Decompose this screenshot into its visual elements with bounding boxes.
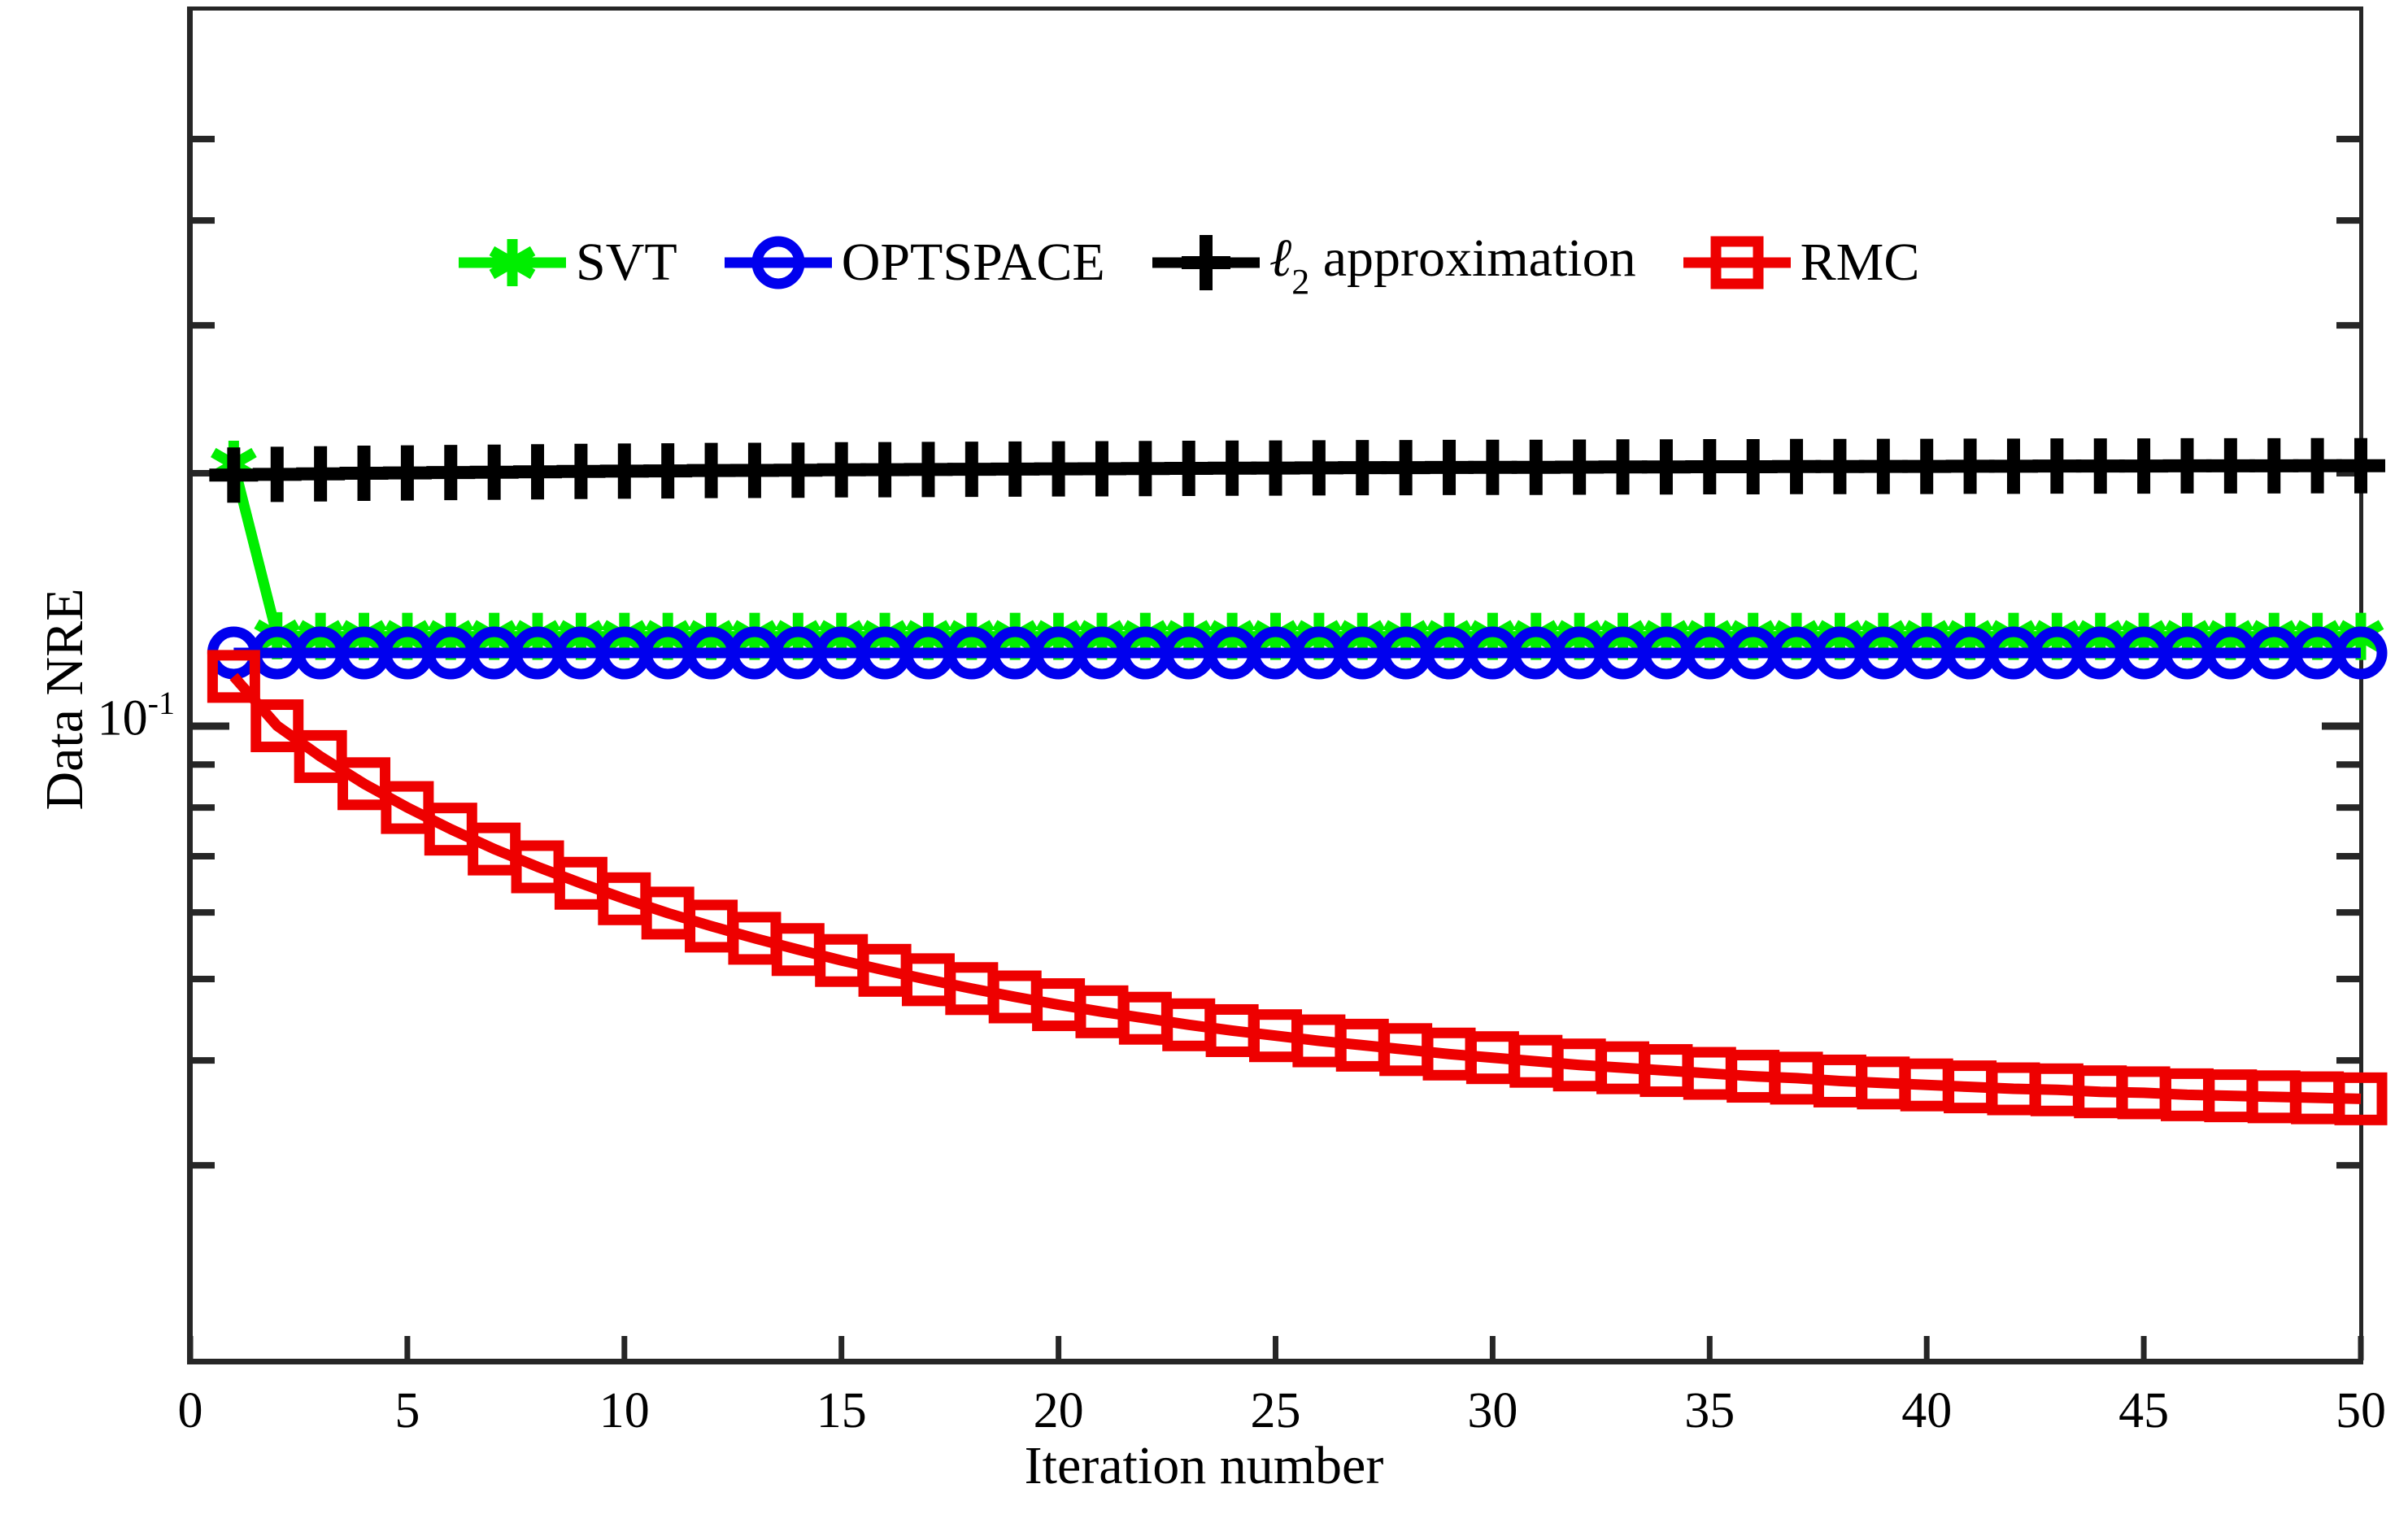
- legend-label-subscript: 2: [1291, 262, 1309, 302]
- legend-label-text: approximation: [1309, 228, 1635, 288]
- x-tick-label: 50: [2336, 1382, 2386, 1440]
- legend-sample-asterisk-icon: [455, 226, 569, 299]
- x-tick-label: 40: [1901, 1382, 1952, 1440]
- legend-label: OPTSPACE: [835, 236, 1149, 289]
- legend-sample-square-icon: [1680, 226, 1794, 299]
- legend-marker: [1182, 235, 1230, 290]
- legend-label-text: OPTSPACE: [842, 233, 1105, 292]
- legend-label-text: RMC: [1801, 233, 1920, 292]
- x-tick-label: 45: [2118, 1382, 2169, 1440]
- legend-entry-svt: SVT: [455, 226, 721, 299]
- x-tick-label: 30: [1467, 1382, 1518, 1440]
- legend-label-ell-symbol: ℓ: [1269, 228, 1292, 288]
- legend-label: SVT: [569, 236, 721, 289]
- figure-canvas: Data NRE Iteration number 05101520253035…: [0, 0, 2408, 1523]
- chart-legend: SVTOPTSPACEℓ2 approximationRMC: [455, 218, 1963, 307]
- x-tick-label: 25: [1251, 1382, 1301, 1440]
- legend-entry-approximation: ℓ2 approximation: [1149, 226, 1680, 299]
- legend-label-text: SVT: [576, 233, 677, 292]
- legend-entry-optspace: OPTSPACE: [721, 226, 1149, 299]
- plot-axes-box: [187, 7, 2363, 1364]
- legend-label: RMC: [1794, 236, 1964, 289]
- y-tick-label: 10-1: [57, 687, 175, 748]
- x-tick-label: 35: [1684, 1382, 1735, 1440]
- x-tick-label: 20: [1034, 1382, 1084, 1440]
- legend-entry-rmc: RMC: [1680, 226, 1964, 299]
- legend-sample-circle-icon: [721, 226, 835, 299]
- x-tick-label: 5: [394, 1382, 420, 1440]
- x-axis-label: Iteration number: [0, 1435, 2408, 1497]
- x-tick-label: 15: [816, 1382, 867, 1440]
- legend-label: ℓ2 approximation: [1263, 232, 1680, 294]
- x-tick-label: 0: [178, 1382, 203, 1440]
- legend-sample-plus-icon: [1149, 226, 1263, 299]
- x-tick-label: 10: [599, 1382, 650, 1440]
